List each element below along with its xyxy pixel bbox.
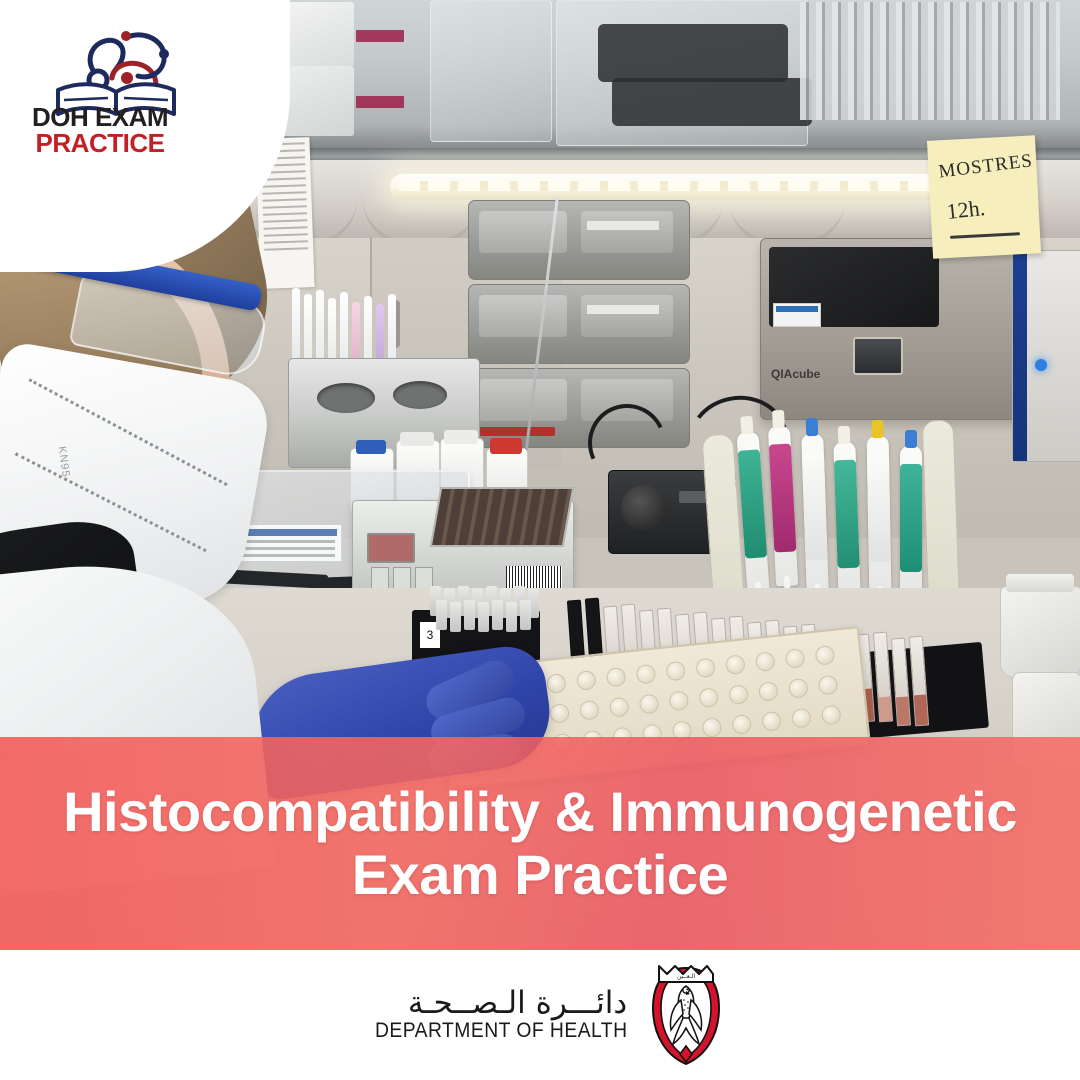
bottle-cap bbox=[444, 430, 478, 444]
pipette bbox=[833, 442, 860, 599]
grey-instrument-stack bbox=[468, 200, 688, 450]
instrument-blue-stripe bbox=[1013, 251, 1027, 461]
secondary-qiagen-instrument bbox=[1012, 250, 1080, 462]
light-fixture bbox=[390, 174, 1020, 200]
box-label bbox=[356, 96, 404, 108]
sticky-note: MOSTRES 12h. bbox=[927, 135, 1041, 258]
sticky-note-line1: MOSTRES bbox=[937, 150, 1034, 183]
title-line-1: Histocompatibility & Immunogenetic bbox=[63, 781, 1017, 844]
box-label bbox=[356, 30, 404, 42]
doh-arabic-name: دائـــرة الـصــحـة bbox=[408, 987, 627, 1020]
logo-text-line1: DOH EXAM bbox=[24, 104, 176, 130]
dark-equipment bbox=[598, 24, 788, 82]
social-media-poster: QIAcube MOSTRES 12h. bbox=[0, 0, 1080, 1080]
dark-equipment bbox=[612, 78, 812, 126]
title-line-2: Exam Practice bbox=[352, 844, 728, 907]
bottle-cap bbox=[490, 438, 522, 454]
tube-row bbox=[800, 2, 1060, 120]
instrument-brand-label: QIAcube bbox=[771, 367, 820, 381]
bottle-cap bbox=[356, 440, 386, 454]
pipette bbox=[801, 434, 829, 595]
sample-well-plate bbox=[430, 487, 575, 547]
bottle-cap bbox=[400, 432, 434, 446]
pipette bbox=[867, 436, 892, 594]
power-led-icon bbox=[1035, 359, 1047, 371]
title-banner: Histocompatibility & Immunogenetic Exam … bbox=[0, 737, 1080, 950]
glass-jar bbox=[1000, 586, 1080, 678]
instrument-sticker bbox=[773, 303, 821, 327]
instrument-display bbox=[367, 533, 415, 563]
barcode-sticker bbox=[505, 565, 563, 589]
footer-logo-bar: دائـــرة الـصــحـة DEPARTMENT OF HEALTH … bbox=[0, 950, 1080, 1080]
instrument-screen bbox=[853, 337, 903, 375]
sticky-note-line2: 12h. bbox=[945, 195, 986, 225]
doh-wordmark: دائـــرة الـصــحـة DEPARTMENT OF HEALTH bbox=[353, 987, 627, 1044]
pipette bbox=[768, 426, 798, 587]
doh-english-name: DEPARTMENT OF HEALTH bbox=[375, 1019, 628, 1043]
jar-lid bbox=[1006, 574, 1074, 592]
sticky-note-underline bbox=[950, 232, 1020, 239]
clear-bin bbox=[430, 0, 552, 142]
speaker-icon bbox=[621, 485, 667, 531]
logo-text-line2: PRACTICE bbox=[24, 130, 176, 156]
pipette bbox=[900, 446, 922, 598]
qiacube-instrument: QIAcube bbox=[760, 238, 1032, 420]
abu-dhabi-falcon-emblem-icon: الـعــين bbox=[645, 960, 727, 1070]
svg-text:الـعــين: الـعــين bbox=[677, 973, 695, 980]
